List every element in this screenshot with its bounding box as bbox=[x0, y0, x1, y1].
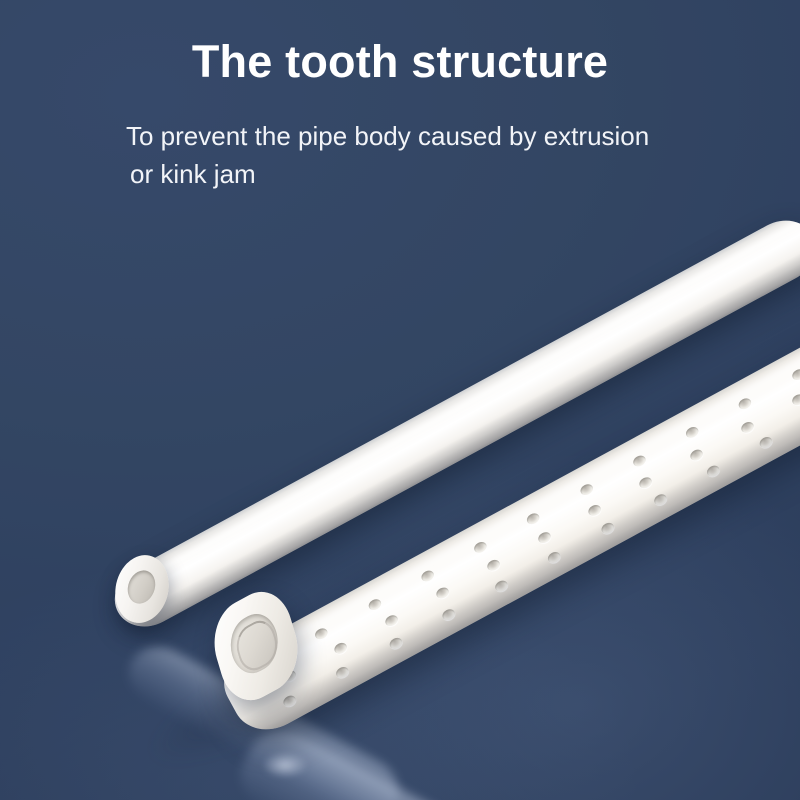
tooth-dimple bbox=[313, 626, 329, 641]
tooth-dimple bbox=[790, 367, 800, 382]
page-subtitle: To prevent the pipe body caused by extru… bbox=[126, 117, 766, 193]
tooth-dimple bbox=[790, 392, 800, 407]
tooth-dimple bbox=[684, 425, 700, 440]
upper-tube-bore bbox=[124, 565, 158, 609]
tooth-dimple bbox=[366, 597, 382, 612]
product-banner: The tooth structure To prevent the pipe … bbox=[0, 0, 800, 800]
tooth-dimple bbox=[536, 530, 552, 545]
subtitle-line-2: or kink jam bbox=[126, 155, 766, 193]
tooth-dimple bbox=[631, 454, 647, 469]
tooth-dimple bbox=[485, 558, 501, 573]
tooth-dimple bbox=[332, 641, 348, 656]
tooth-dimple bbox=[525, 511, 541, 526]
subtitle-line-1: To prevent the pipe body caused by extru… bbox=[126, 121, 649, 151]
tooth-dimple bbox=[587, 503, 603, 518]
floor-glint bbox=[262, 752, 308, 778]
tooth-dimple bbox=[740, 420, 756, 435]
tooth-dimple bbox=[419, 569, 435, 584]
tooth-dimple bbox=[472, 540, 488, 555]
tooth-dimple bbox=[737, 396, 753, 411]
page-title: The tooth structure bbox=[0, 38, 800, 85]
tooth-dimple bbox=[689, 447, 705, 462]
tooth-dimple bbox=[578, 482, 594, 497]
tooth-dimple bbox=[434, 586, 450, 601]
tooth-dimple bbox=[383, 613, 399, 628]
tooth-dimple bbox=[638, 475, 654, 490]
